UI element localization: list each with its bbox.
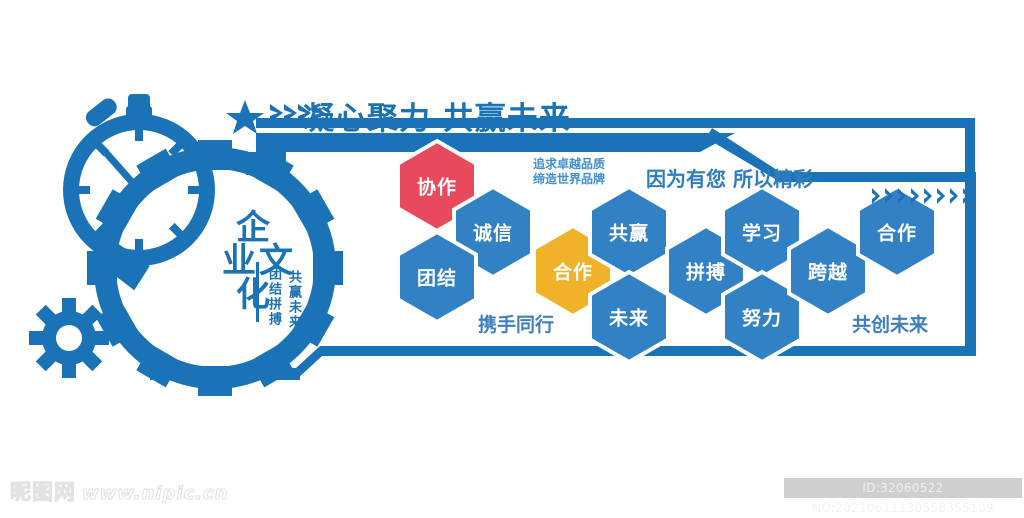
emblem-divider: [256, 262, 259, 322]
image-id-badge: ID:32060522 NO:20210611130558355109: [784, 478, 1022, 498]
slogan-because-of-you: 因为有您 所以精彩: [646, 163, 813, 192]
right-chevron-5-icon: [924, 188, 932, 204]
slogan-quality-line2: 缔造世界品牌: [533, 172, 605, 186]
right-chevron-6-icon: [937, 188, 945, 204]
artwork-layer: [0, 0, 1024, 512]
page-title: 凝心聚力 共赢未来: [303, 93, 571, 138]
emblem-vertical-left: 团结拼搏: [264, 267, 283, 327]
slogan-quality-line1: 追求卓越品质: [533, 157, 605, 171]
hex-chengxin-label: 诚信: [473, 219, 513, 246]
culture-wall-canvas: 凝心聚力 共赢未来 追求卓越品质 缔造世界品牌 因为有您 所以精彩 携手同行 共…: [0, 0, 1024, 512]
hex-hezuo-2-label: 合作: [877, 219, 917, 246]
hex-weilai-label: 未来: [609, 304, 649, 331]
hex-kuayue-label: 跨越: [808, 258, 848, 285]
right-chevron-7-icon: [950, 188, 958, 204]
hex-nuli-label: 努力: [742, 304, 782, 331]
gear-icon: [29, 298, 109, 378]
watermark-brand: 昵图网: [10, 480, 76, 504]
hex-xiezuo-label: 协作: [417, 173, 457, 200]
site-watermark: 昵图网www.nipic.cn: [10, 476, 229, 506]
star-icon: [226, 100, 264, 134]
emblem-vertical-right: 共赢未来: [284, 270, 303, 330]
slogan-create-future: 共创未来: [852, 310, 928, 337]
hex-gongying-label: 共赢: [609, 219, 649, 246]
hex-pinbo-label: 拼搏: [686, 258, 726, 285]
slogan-quality: 追求卓越品质 缔造世界品牌: [514, 157, 624, 187]
watermark-url: www.nipic.cn: [82, 483, 229, 504]
hex-hezuo-1-label: 合作: [553, 258, 593, 285]
hex-xuexi-label: 学习: [742, 219, 782, 246]
slogan-hand-in-hand: 携手同行: [478, 310, 554, 337]
hex-tuanjie-label: 团结: [417, 264, 457, 291]
